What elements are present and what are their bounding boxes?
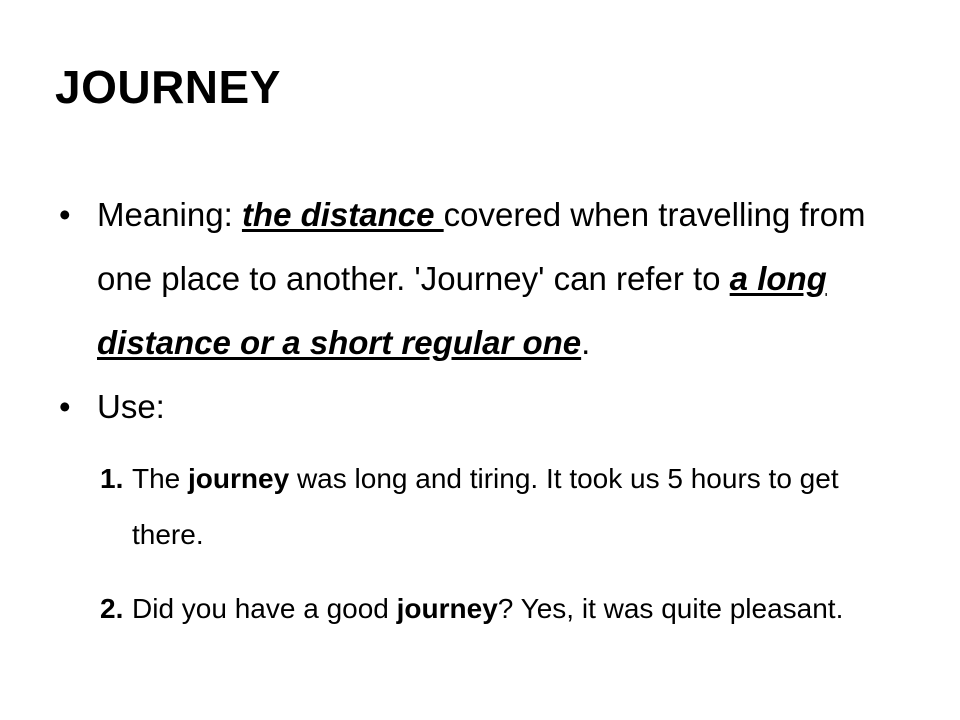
run-emphasis-journey: journey <box>397 593 498 624</box>
example-text: Did you have a good journey? Yes, it was… <box>132 581 915 637</box>
run-emphasis-the-distance: the distance <box>242 196 444 233</box>
run-plain: Use: <box>97 388 165 425</box>
bullet-text-meaning: Meaning: the distance covered when trave… <box>97 183 915 375</box>
example-text: The journey was long and tiring. It took… <box>132 451 915 563</box>
slide-canvas: JOURNEY • Meaning: the distance covered … <box>0 0 960 720</box>
example-list: 1. The journey was long and tiring. It t… <box>55 451 915 637</box>
page-title: JOURNEY <box>55 60 905 114</box>
bullet-item-use: • Use: <box>55 375 915 439</box>
run-plain: Did you have a good <box>132 593 397 624</box>
list-item: 2. Did you have a good journey? Yes, it … <box>100 581 915 637</box>
bullet-glyph-icon: • <box>59 183 71 247</box>
list-item: 1. The journey was long and tiring. It t… <box>100 451 915 563</box>
bullet-item-meaning: • Meaning: the distance covered when tra… <box>55 183 915 375</box>
run-plain: ? Yes, it was quite pleasant. <box>498 593 844 624</box>
run-plain: Meaning: <box>97 196 242 233</box>
run-emphasis-journey: journey <box>188 463 289 494</box>
bullet-text-use: Use: <box>97 375 915 439</box>
run-plain: . <box>581 324 590 361</box>
example-number: 1. <box>100 451 123 507</box>
example-number: 2. <box>100 581 123 637</box>
slide-body: • Meaning: the distance covered when tra… <box>55 183 915 637</box>
bullet-glyph-icon: • <box>59 375 71 439</box>
run-plain: The <box>132 463 188 494</box>
